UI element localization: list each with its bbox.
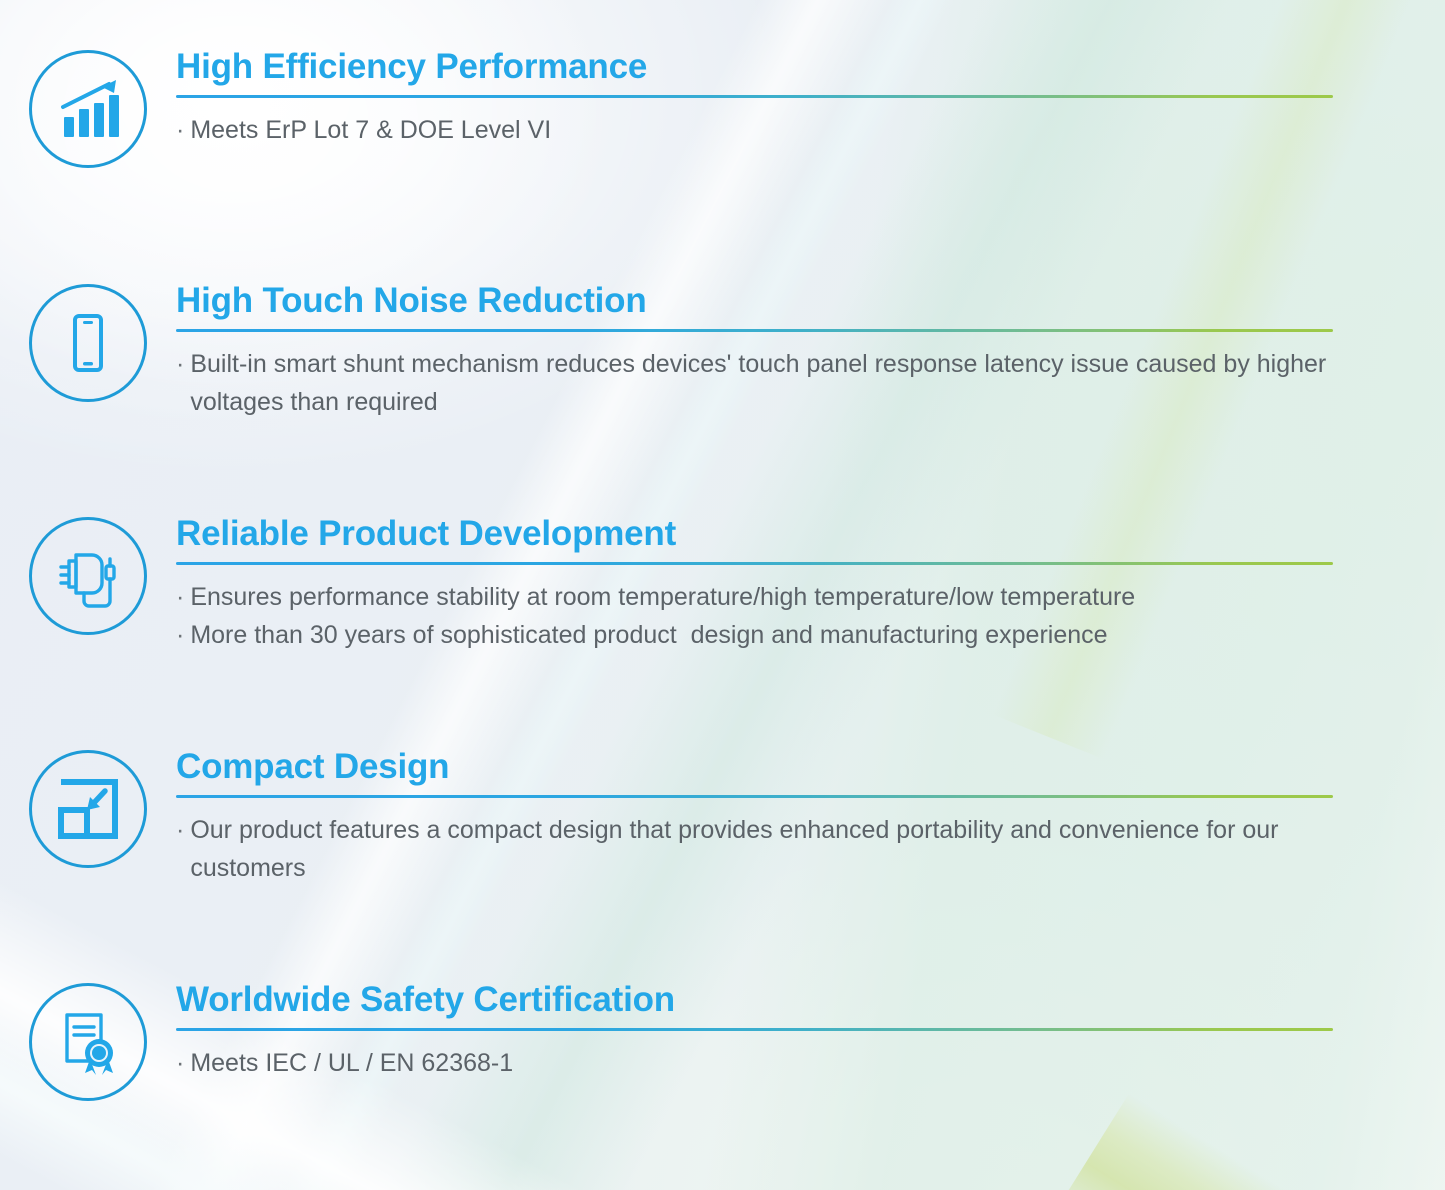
feature-title: Reliable Product Development [176, 515, 1365, 552]
smartphone-icon [29, 284, 147, 402]
bullet-text: Our product features a compact design th… [190, 811, 1365, 887]
bullet-item: · More than 30 years of sophisticated pr… [176, 616, 1365, 654]
feature-title: High Touch Noise Reduction [176, 282, 1365, 319]
bullet-text: Meets IEC / UL / EN 62368-1 [190, 1044, 1365, 1082]
feature-icon-wrap [0, 282, 176, 402]
feature-body: High Efficiency Performance · Meets ErP … [176, 48, 1445, 149]
feature-body: Reliable Product Development · Ensures p… [176, 515, 1445, 654]
feature-title: Compact Design [176, 748, 1365, 785]
feature-row-reliable-product-development: Reliable Product Development · Ensures p… [0, 515, 1445, 654]
bullet-text: Built-in smart shunt mechanism reduces d… [190, 345, 1365, 421]
feature-divider [176, 329, 1333, 332]
bullet-text: Meets ErP Lot 7 & DOE Level VI [190, 111, 1365, 149]
feature-bullets: · Ensures performance stability at room … [176, 578, 1365, 654]
feature-body: Worldwide Safety Certification · Meets I… [176, 981, 1445, 1082]
background-green-band-bottom [1050, 1093, 1445, 1190]
bullet-marker-icon: · [176, 578, 184, 616]
bullet-item: · Meets IEC / UL / EN 62368-1 [176, 1044, 1365, 1082]
feature-title: Worldwide Safety Certification [176, 981, 1365, 1018]
feature-divider [176, 562, 1333, 565]
feature-icon-wrap [0, 981, 176, 1101]
bullet-marker-icon: · [176, 345, 184, 383]
feature-row-worldwide-safety-certification: Worldwide Safety Certification · Meets I… [0, 981, 1445, 1101]
bullet-item: · Meets ErP Lot 7 & DOE Level VI [176, 111, 1365, 149]
bar-chart-growth-icon [29, 50, 147, 168]
certificate-award-icon [29, 983, 147, 1101]
feature-body: High Touch Noise Reduction · Built-in sm… [176, 282, 1445, 421]
feature-bullets: · Meets IEC / UL / EN 62368-1 [176, 1044, 1365, 1082]
bullet-marker-icon: · [176, 811, 184, 849]
bullet-item: · Ensures performance stability at room … [176, 578, 1365, 616]
feature-row-high-efficiency-performance: High Efficiency Performance · Meets ErP … [0, 48, 1445, 168]
feature-bullets: · Our product features a compact design … [176, 811, 1365, 887]
feature-divider [176, 95, 1333, 98]
feature-divider [176, 1028, 1333, 1031]
bullet-item: · Our product features a compact design … [176, 811, 1365, 887]
feature-icon-wrap [0, 515, 176, 635]
power-adapter-icon [29, 517, 147, 635]
feature-divider [176, 795, 1333, 798]
bullet-text: Ensures performance stability at room te… [190, 578, 1365, 616]
bullet-marker-icon: · [176, 1044, 184, 1082]
feature-bullets: · Meets ErP Lot 7 & DOE Level VI [176, 111, 1365, 149]
bullet-text: More than 30 years of sophisticated prod… [190, 616, 1365, 654]
feature-row-high-touch-noise-reduction: High Touch Noise Reduction · Built-in sm… [0, 282, 1445, 421]
feature-highlights-page: High Efficiency Performance · Meets ErP … [0, 0, 1445, 1190]
feature-icon-wrap [0, 748, 176, 868]
feature-body: Compact Design · Our product features a … [176, 748, 1445, 887]
compact-resize-icon [29, 750, 147, 868]
feature-title: High Efficiency Performance [176, 48, 1365, 85]
bullet-marker-icon: · [176, 111, 184, 149]
feature-row-compact-design: Compact Design · Our product features a … [0, 748, 1445, 887]
bullet-item: · Built-in smart shunt mechanism reduces… [176, 345, 1365, 421]
bullet-marker-icon: · [176, 616, 184, 654]
feature-bullets: · Built-in smart shunt mechanism reduces… [176, 345, 1365, 421]
feature-icon-wrap [0, 48, 176, 168]
